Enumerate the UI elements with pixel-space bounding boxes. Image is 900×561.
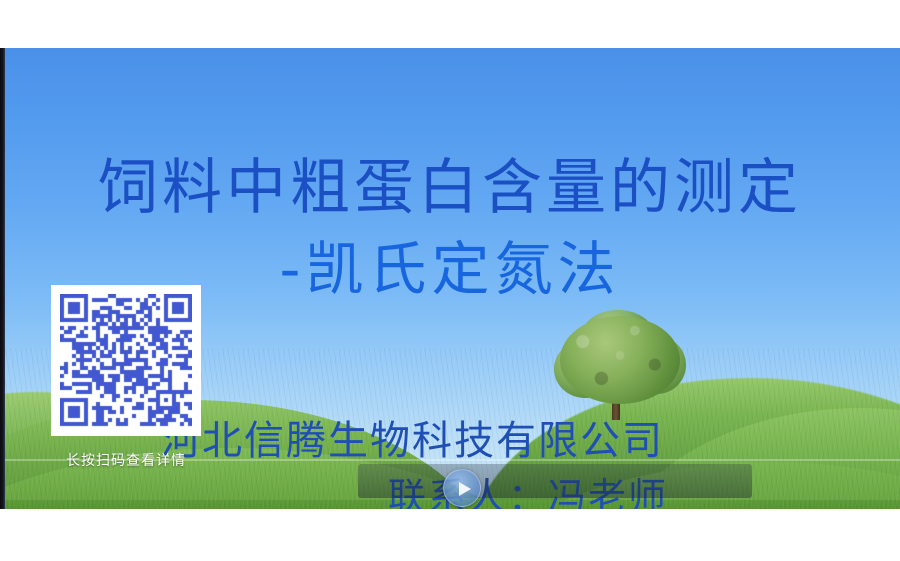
video-player[interactable]: 饲料中粗蛋白含量的测定 -凯氏定氮法 长按扫码查看详情 河北信腾生物科技有限公司…: [0, 48, 900, 509]
qr-code-block[interactable]: 长按扫码查看详情: [51, 285, 201, 470]
qr-code-image[interactable]: [60, 294, 192, 427]
player-left-bezel: [0, 48, 5, 509]
page-root: 饲料中粗蛋白含量的测定 -凯氏定氮法 长按扫码查看详情 河北信腾生物科技有限公司…: [0, 0, 900, 561]
qr-code-caption: 长按扫码查看详情: [51, 450, 201, 470]
qr-code-panel[interactable]: [51, 285, 201, 436]
tree-foliage-detail: [558, 314, 682, 406]
company-contact-line: 联系人：冯老师: [78, 466, 900, 509]
page-white-area: [0, 509, 900, 561]
slide-title-line-1: 饲料中粗蛋白含量的测定: [0, 157, 900, 220]
